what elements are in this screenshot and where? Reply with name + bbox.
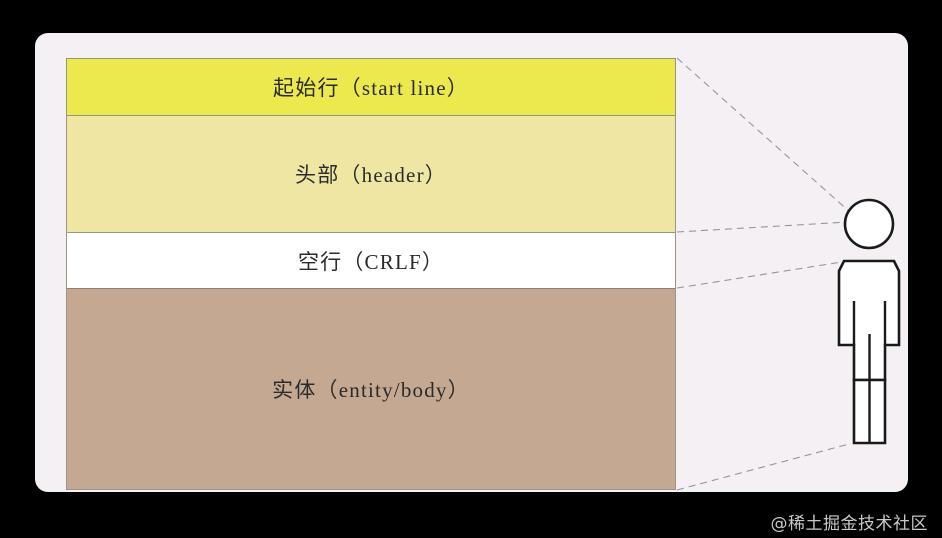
row-label-header: 头部（header） (295, 159, 447, 189)
person-head-icon (845, 200, 893, 248)
table-row-start-line[interactable]: 起始行（start line） (67, 59, 675, 116)
watermark: @稀土掘金技术社区 (771, 509, 929, 534)
diagram-canvas: 起始行（start line） 头部（header） 空行（CRLF） 实体（e… (0, 0, 942, 538)
row-label-start-line: 起始行（start line） (273, 72, 469, 102)
row-label-crlf: 空行（CRLF） (298, 246, 444, 276)
table-row-header[interactable]: 头部（header） (67, 116, 675, 233)
http-message-table: 起始行（start line） 头部（header） 空行（CRLF） 实体（e… (66, 58, 676, 490)
row-label-entity-body: 实体（entity/body） (272, 374, 470, 404)
person-pictogram-icon (826, 190, 916, 455)
table-row-crlf[interactable]: 空行（CRLF） (67, 233, 675, 289)
table-row-entity-body[interactable]: 实体（entity/body） (67, 289, 675, 489)
diagram-panel: 起始行（start line） 头部（header） 空行（CRLF） 实体（e… (35, 33, 908, 492)
